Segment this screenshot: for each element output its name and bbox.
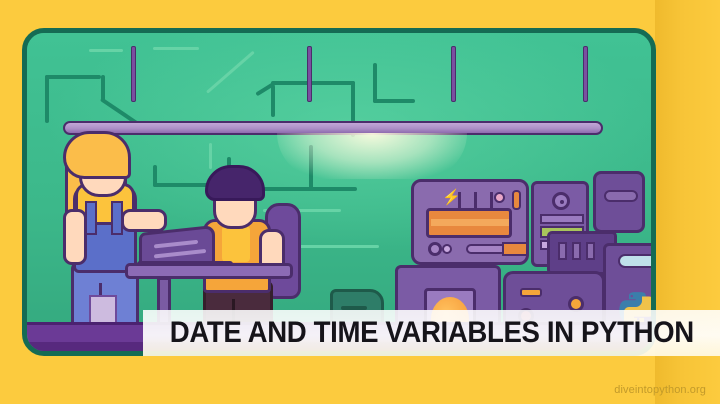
wall-circuit-line <box>153 183 211 187</box>
woman-hair-front <box>63 131 131 179</box>
rack-tick <box>458 192 461 208</box>
rack-led <box>512 190 521 210</box>
server-rack-top-right <box>593 171 645 233</box>
woman-arm-right <box>121 209 167 232</box>
wall-circuit-line <box>271 81 355 85</box>
light-rod <box>307 46 312 102</box>
rack-vent <box>572 242 581 260</box>
rack-dial <box>552 192 570 210</box>
laptop-code-line <box>154 249 206 258</box>
rack-bay <box>540 214 584 224</box>
rack-knob-small <box>442 244 452 254</box>
laptop-code-line <box>154 240 198 249</box>
person-hair <box>205 165 265 201</box>
watermark: diveintopython.org <box>614 384 706 396</box>
rack-orange-block <box>502 242 528 256</box>
video-thumbnail: ⚡ <box>0 0 720 404</box>
light-rod <box>131 46 136 102</box>
wall-circuit-line-light <box>89 49 123 52</box>
rack-tick <box>490 192 493 208</box>
server-room-panel: ⚡ <box>22 28 656 356</box>
person-shirt-highlight <box>222 226 250 262</box>
wall-circuit-line <box>373 99 415 103</box>
server-rack-top-left: ⚡ <box>411 179 529 265</box>
light-rod <box>583 46 588 102</box>
rack-orange-bar-highlight <box>431 219 509 226</box>
wall-circuit-line <box>45 75 101 79</box>
page-title: DATE AND TIME VARIABLES IN PYTHON <box>169 316 693 350</box>
light-rod <box>451 46 456 102</box>
rack-vent <box>558 242 567 260</box>
rack-knob <box>428 242 442 256</box>
wall-circuit-line <box>271 85 275 117</box>
wall-circuit-line-light <box>153 47 199 50</box>
light-glow <box>277 133 467 179</box>
rack-status-pill <box>618 254 656 268</box>
rack-vent <box>586 242 595 260</box>
rack-label <box>520 288 542 297</box>
rack-slot <box>604 190 638 202</box>
wall-circuit-line-light <box>209 143 212 169</box>
title-banner: DATE AND TIME VARIABLES IN PYTHON <box>143 310 720 356</box>
wall-circuit-line <box>373 63 377 103</box>
standing-desk-top <box>125 263 293 279</box>
rack-orange-bar <box>426 208 512 238</box>
rack-tick <box>474 192 477 208</box>
woman-arm-left <box>63 209 87 265</box>
rack-indicator-dot <box>494 192 505 203</box>
wall-circuit-line <box>45 75 49 123</box>
